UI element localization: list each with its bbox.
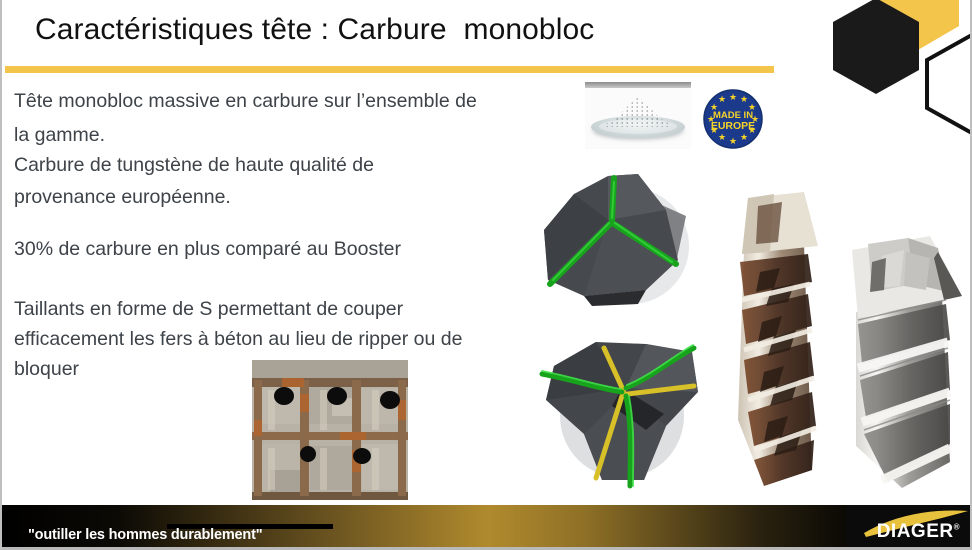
- svg-text:★: ★: [718, 133, 726, 143]
- svg-text:★: ★: [740, 133, 748, 143]
- bit-head-petal-2: [904, 252, 930, 290]
- svg-text:★: ★: [729, 93, 737, 103]
- tungsten-carbide-powder-photo: [585, 82, 691, 149]
- carbide-head-render-s-edges: [526, 330, 722, 490]
- diager-wordmark: DIAGER: [877, 521, 954, 542]
- title-underline-rule: [5, 66, 774, 73]
- made-in-europe-badge: ★★★ ★★★ ★★★ ★★★ MADE IN EUROPE: [702, 88, 764, 150]
- body-line: Tête monobloc massive en carbure sur l’e…: [14, 88, 477, 114]
- footer-slogan: "outiller les hommes durablement": [28, 527, 262, 543]
- carbide-head-render-2-svg: [526, 330, 722, 490]
- body-line: 30% de carbure en plus comparé au Booste…: [14, 236, 401, 262]
- slide-footer: "outiller les hommes durablement" DIAGER…: [2, 505, 972, 550]
- drill-bit-photo-used: [708, 170, 836, 492]
- bit-head-dark-gap: [870, 258, 886, 292]
- drilled-hole: [380, 391, 400, 409]
- reinforced-concrete-holes-photo: [252, 360, 408, 500]
- svg-text:★: ★: [718, 95, 726, 105]
- hexagon-decoration-svg: [818, 0, 970, 160]
- made-in-europe-svg: ★★★ ★★★ ★★★ ★★★ MADE IN EUROPE: [702, 88, 764, 150]
- bit-head-shadow: [756, 202, 782, 244]
- drill-bit-2-svg: [838, 200, 970, 492]
- body-line: Carbure de tungstène de haute qualité de: [14, 152, 374, 178]
- hexagon-black-outline: [927, 36, 970, 132]
- diager-logo: DIAGER®: [848, 507, 970, 547]
- body-line: Taillants en forme de S permettant de co…: [14, 296, 403, 322]
- body-line: efficacement les fers à béton au lieu de…: [14, 326, 462, 352]
- powder-grain-texture: [605, 96, 671, 127]
- drill-bit-1-svg: [708, 170, 836, 492]
- svg-text:★: ★: [729, 137, 737, 147]
- slide-canvas: Caractéristiques tête : Carbure monobloc…: [0, 0, 972, 550]
- drilled-hole: [300, 446, 316, 462]
- body-line: bloquer: [14, 356, 79, 382]
- drilled-hole: [353, 448, 371, 464]
- diager-logo-text: DIAGER®: [877, 521, 960, 543]
- body-line: la gamme.: [14, 122, 105, 148]
- drill-bit-photo-new: [838, 200, 970, 492]
- body-line: provenance européenne.: [14, 184, 231, 210]
- badge-line2: EUROPE: [711, 120, 755, 132]
- carbide-head-render-green-edges: [526, 168, 722, 318]
- photo-top-edge: [585, 82, 691, 88]
- page-title: Caractéristiques tête : Carbure monobloc: [35, 10, 735, 50]
- drilled-hole: [274, 387, 294, 405]
- svg-text:★: ★: [740, 95, 748, 105]
- registered-trademark-mark: ®: [954, 523, 960, 532]
- drilled-hole: [327, 387, 347, 405]
- concrete-svg: [252, 360, 408, 500]
- hexagon-decoration: [818, 0, 970, 160]
- carbide-head-render-1-svg: [526, 168, 722, 318]
